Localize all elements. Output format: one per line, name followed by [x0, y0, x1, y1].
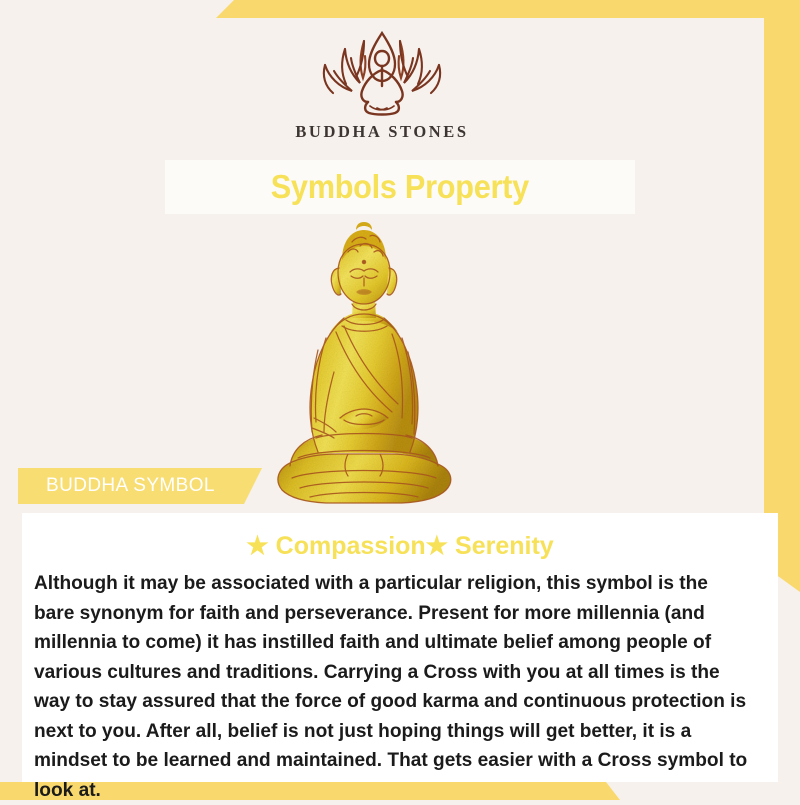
poster-stage: BUDDHA STONES Symbols Property — [0, 18, 764, 782]
right-accent-band — [764, 0, 800, 592]
content-card: ★ Compassion★ Serenity Although it may b… — [22, 513, 778, 782]
top-accent-band — [216, 0, 800, 18]
page-title: Symbols Property — [271, 168, 529, 206]
buddha-symbol-ribbon: BUDDHA SYMBOL — [18, 468, 262, 504]
section-body-text: Although it may be associated with a par… — [34, 569, 753, 805]
brand-header: BUDDHA STONES — [0, 28, 764, 142]
brand-wordmark: BUDDHA STONES — [295, 122, 468, 142]
section-subhead: ★ Compassion★ Serenity — [22, 531, 778, 561]
lotus-meditation-icon — [307, 28, 457, 120]
ribbon-label: BUDDHA SYMBOL — [18, 475, 215, 497]
seated-buddha-statue-icon — [252, 222, 476, 514]
page-title-strip: Symbols Property — [165, 160, 635, 214]
